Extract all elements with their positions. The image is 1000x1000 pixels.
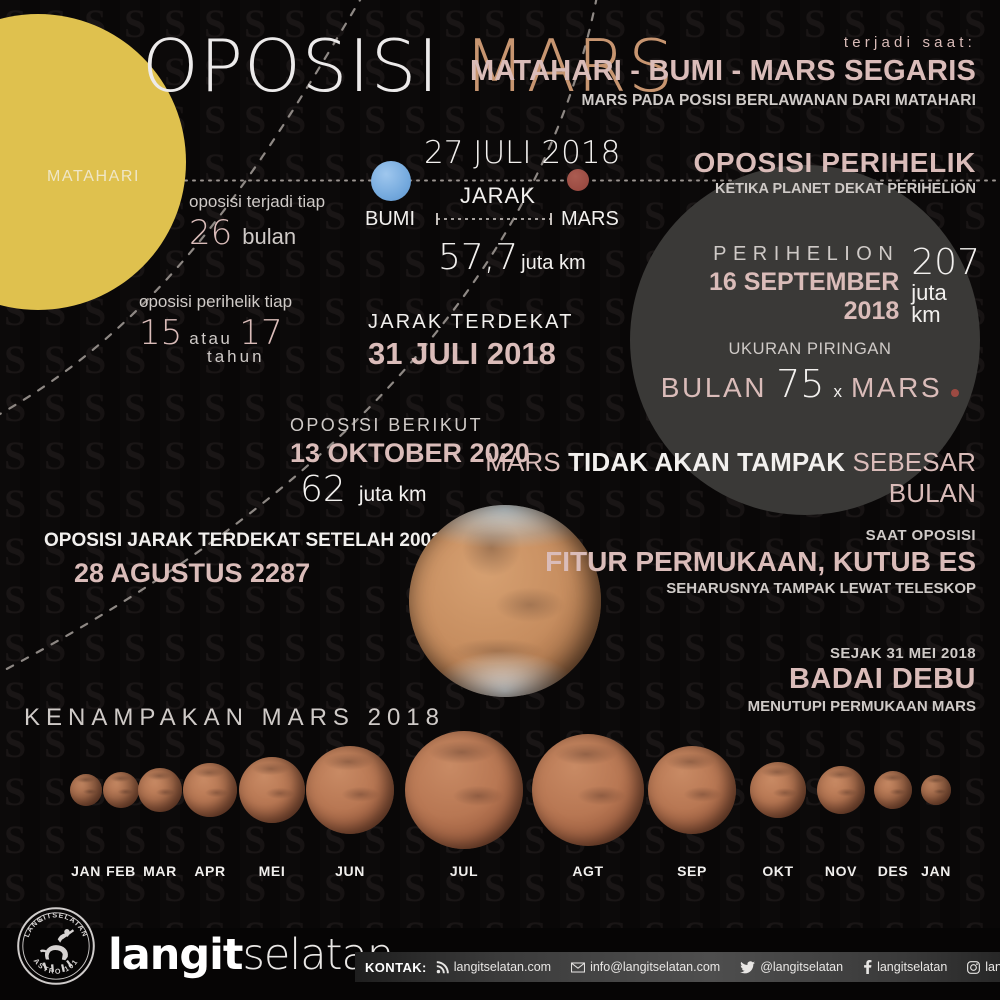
contact-text-email: info@langitselatan.com bbox=[590, 960, 720, 974]
duststorm-sub: MENUTUPI PERMUKAAN MARS bbox=[576, 698, 976, 715]
contact-text-website: langitselatan.com bbox=[454, 960, 551, 974]
record-closest-block: OPOSISI JARAK TERDEKAT SETELAH 2003 28 A… bbox=[44, 530, 464, 589]
mars-label: MARS bbox=[561, 208, 619, 231]
mars-size-timeline: JANFEBMARAPRMEIJUNJULAGTSEPOKTNOVDESJAN bbox=[0, 745, 1000, 865]
record-closest-label: OPOSISI JARAK TERDEKAT SETELAH 2003 bbox=[44, 530, 464, 552]
perihelion-value: 207 bbox=[911, 245, 980, 280]
instagram-icon bbox=[967, 961, 980, 974]
mars-size-month-label: JAN bbox=[71, 863, 101, 879]
mars-size-month-label: JAN bbox=[921, 863, 951, 879]
contact-item-facebook[interactable]: langitselatan bbox=[863, 960, 947, 974]
disk-size-factor: 75 bbox=[776, 362, 824, 406]
cycle-perihelic-value-1: 15 bbox=[139, 313, 182, 353]
cycle-months-block: oposisi terjadi tiap 26 bulan bbox=[189, 192, 449, 253]
logo-ring-bottom: ASTRO 101 bbox=[32, 957, 81, 976]
phases-title: KENAMPAKAN MARS 2018 bbox=[24, 704, 445, 732]
mars-size-disk bbox=[874, 771, 912, 809]
distance-measure bbox=[437, 213, 551, 225]
disk-size-moon: BULAN bbox=[661, 372, 767, 404]
cycle-months-unit: bulan bbox=[242, 224, 296, 250]
contact-item-email[interactable]: info@langitselatan.com bbox=[571, 960, 720, 974]
contact-text-facebook: langitselatan bbox=[877, 960, 947, 974]
perihelion-block: PERIHELION 16 SEPTEMBER 2018 207 juta km bbox=[660, 243, 980, 326]
mars-size-disk bbox=[306, 746, 394, 834]
contact-item-twitter[interactable]: @langitselatan bbox=[740, 960, 843, 974]
mars-size-disk bbox=[817, 766, 865, 814]
svg-text:ASTRO 101: ASTRO 101 bbox=[32, 957, 81, 976]
telescope-block: SAAT OPOSISI FITUR PERMUKAAN, KUTUB ES S… bbox=[516, 527, 976, 597]
mars-size-disk bbox=[750, 762, 806, 818]
envelope-icon bbox=[571, 962, 585, 973]
telescope-kicker: SAAT OPOSISI bbox=[516, 527, 976, 544]
perihelion-label: PERIHELION bbox=[660, 243, 899, 266]
rss-icon bbox=[436, 961, 449, 974]
mars-size-month-label: SEP bbox=[677, 863, 707, 879]
closest-approach-block: JARAK TERDEKAT 31 JULI 2018 bbox=[368, 311, 668, 372]
mars-size-disk bbox=[921, 775, 951, 805]
disk-size-multiplier: x bbox=[833, 382, 842, 402]
mars-size-month-label: FEB bbox=[106, 863, 136, 879]
brand-bold: langit bbox=[108, 930, 242, 980]
distance-value: 57,7 bbox=[438, 237, 518, 278]
closest-approach-date: 31 JULI 2018 bbox=[368, 336, 668, 372]
contact-bar: KONTAK: langitselatan.com info@langitsel… bbox=[355, 952, 1000, 982]
brand-wordmark: langitselatan bbox=[108, 930, 393, 980]
perihelion-unit: juta km bbox=[911, 282, 980, 326]
next-opposition-value: 62 bbox=[300, 469, 346, 510]
mars-size-disk bbox=[405, 731, 523, 849]
disk-size-mars: MARS bbox=[851, 372, 942, 404]
mars-size-month-label: JUL bbox=[450, 863, 478, 879]
contact-item-website[interactable]: langitselatan.com bbox=[436, 960, 551, 974]
telescope-sub: SEHARUSNYA TAMPAK LEWAT TELESKOP bbox=[516, 580, 976, 597]
title-part-oposisi: OPOSISI bbox=[142, 24, 440, 108]
langitselatan-logo-icon: L LANGITSELATAN ASTRO 101 bbox=[14, 904, 98, 988]
mars-size-disk bbox=[648, 746, 736, 834]
contact-item-instagram[interactable]: langitselatanmedia bbox=[967, 960, 1000, 974]
contact-text-instagram: langitselatanmedia bbox=[985, 960, 1000, 974]
mars-size-month-label: MAR bbox=[143, 863, 177, 879]
alignment-headline: MATAHARI - BUMI - MARS SEGARIS bbox=[456, 56, 976, 87]
disk-size-block: UKURAN PIRINGAN BULAN 75 x MARS bbox=[640, 340, 980, 406]
twitter-icon bbox=[740, 961, 755, 974]
next-opposition-label: OPOSISI BERIKUT bbox=[290, 415, 620, 436]
mars-size-disk bbox=[103, 772, 139, 808]
record-closest-date: 28 AGUSTUS 2287 bbox=[74, 558, 464, 589]
facebook-icon bbox=[863, 960, 872, 974]
distance-label: JARAK bbox=[460, 183, 536, 209]
mars-size-disk bbox=[183, 763, 237, 817]
disk-size-label: UKURAN PIRINGAN bbox=[640, 340, 980, 359]
sun-label: MATAHARI bbox=[47, 168, 140, 186]
opposition-date: 27 JULI 2018 bbox=[424, 135, 620, 171]
mars-size-disk bbox=[239, 757, 305, 823]
cycle-perihelic-label: oposisi perihelik tiap bbox=[139, 292, 419, 312]
mars-size-month-label: NOV bbox=[825, 863, 857, 879]
alignment-sub: MARS PADA POSISI BERLAWANAN DARI MATAHAR… bbox=[456, 92, 976, 110]
cycle-perihelic-or: atau bbox=[189, 329, 232, 349]
next-opposition-unit: juta km bbox=[359, 483, 427, 507]
mars-size-month-label: APR bbox=[194, 863, 225, 879]
distance-unit: juta km bbox=[521, 252, 585, 275]
duststorm-headline: BADAI DEBU bbox=[576, 663, 976, 696]
statement-part-c: SEBESAR BULAN bbox=[845, 447, 976, 508]
next-opposition-block: OPOSISI BERIKUT 13 OKTOBER 2020 62 juta … bbox=[290, 415, 620, 510]
mars-size-month-label: DES bbox=[878, 863, 909, 879]
mars-size-disk bbox=[138, 768, 182, 812]
footer: L LANGITSELATAN ASTRO 101 langitselatan … bbox=[0, 928, 1000, 1000]
perihelion-date: 16 SEPTEMBER 2018 bbox=[660, 268, 899, 326]
mars-size-month-label: AGT bbox=[572, 863, 603, 879]
mars-size-month-label: JUN bbox=[335, 863, 365, 879]
alignment-kicker: terjadi saat: bbox=[456, 34, 976, 51]
mars-dot-icon bbox=[951, 389, 959, 397]
mars-size-month-label: MEI bbox=[259, 863, 286, 879]
infographic-poster: SSSSSSSSSSSSSSSSSSSSSSSSSSSSSSSSSSSSSSSS… bbox=[0, 0, 1000, 1000]
closest-approach-label: JARAK TERDEKAT bbox=[368, 311, 668, 334]
mars-size-disk bbox=[532, 734, 644, 846]
contact-label: KONTAK: bbox=[365, 960, 427, 975]
duststorm-kicker: SEJAK 31 MEI 2018 bbox=[576, 645, 976, 662]
cycle-months-label: oposisi terjadi tiap bbox=[189, 192, 449, 212]
logo-ring-top: LANGITSELATAN bbox=[22, 910, 90, 938]
mars-size-disk bbox=[70, 774, 102, 806]
duststorm-block: SEJAK 31 MEI 2018 BADAI DEBU MENUTUPI PE… bbox=[576, 645, 976, 715]
svg-text:LANGITSELATAN: LANGITSELATAN bbox=[22, 910, 90, 938]
distance-value-block: 57,7 juta km bbox=[438, 237, 586, 278]
cycle-months-value: 26 bbox=[189, 213, 232, 253]
telescope-headline: FITUR PERMUKAAN, KUTUB ES bbox=[516, 546, 976, 578]
next-opposition-date: 13 OKTOBER 2020 bbox=[290, 438, 620, 469]
mars-size-month-label: OKT bbox=[762, 863, 793, 879]
alignment-callout: terjadi saat: MATAHARI - BUMI - MARS SEG… bbox=[456, 34, 976, 110]
contact-text-twitter: @langitselatan bbox=[760, 960, 843, 974]
